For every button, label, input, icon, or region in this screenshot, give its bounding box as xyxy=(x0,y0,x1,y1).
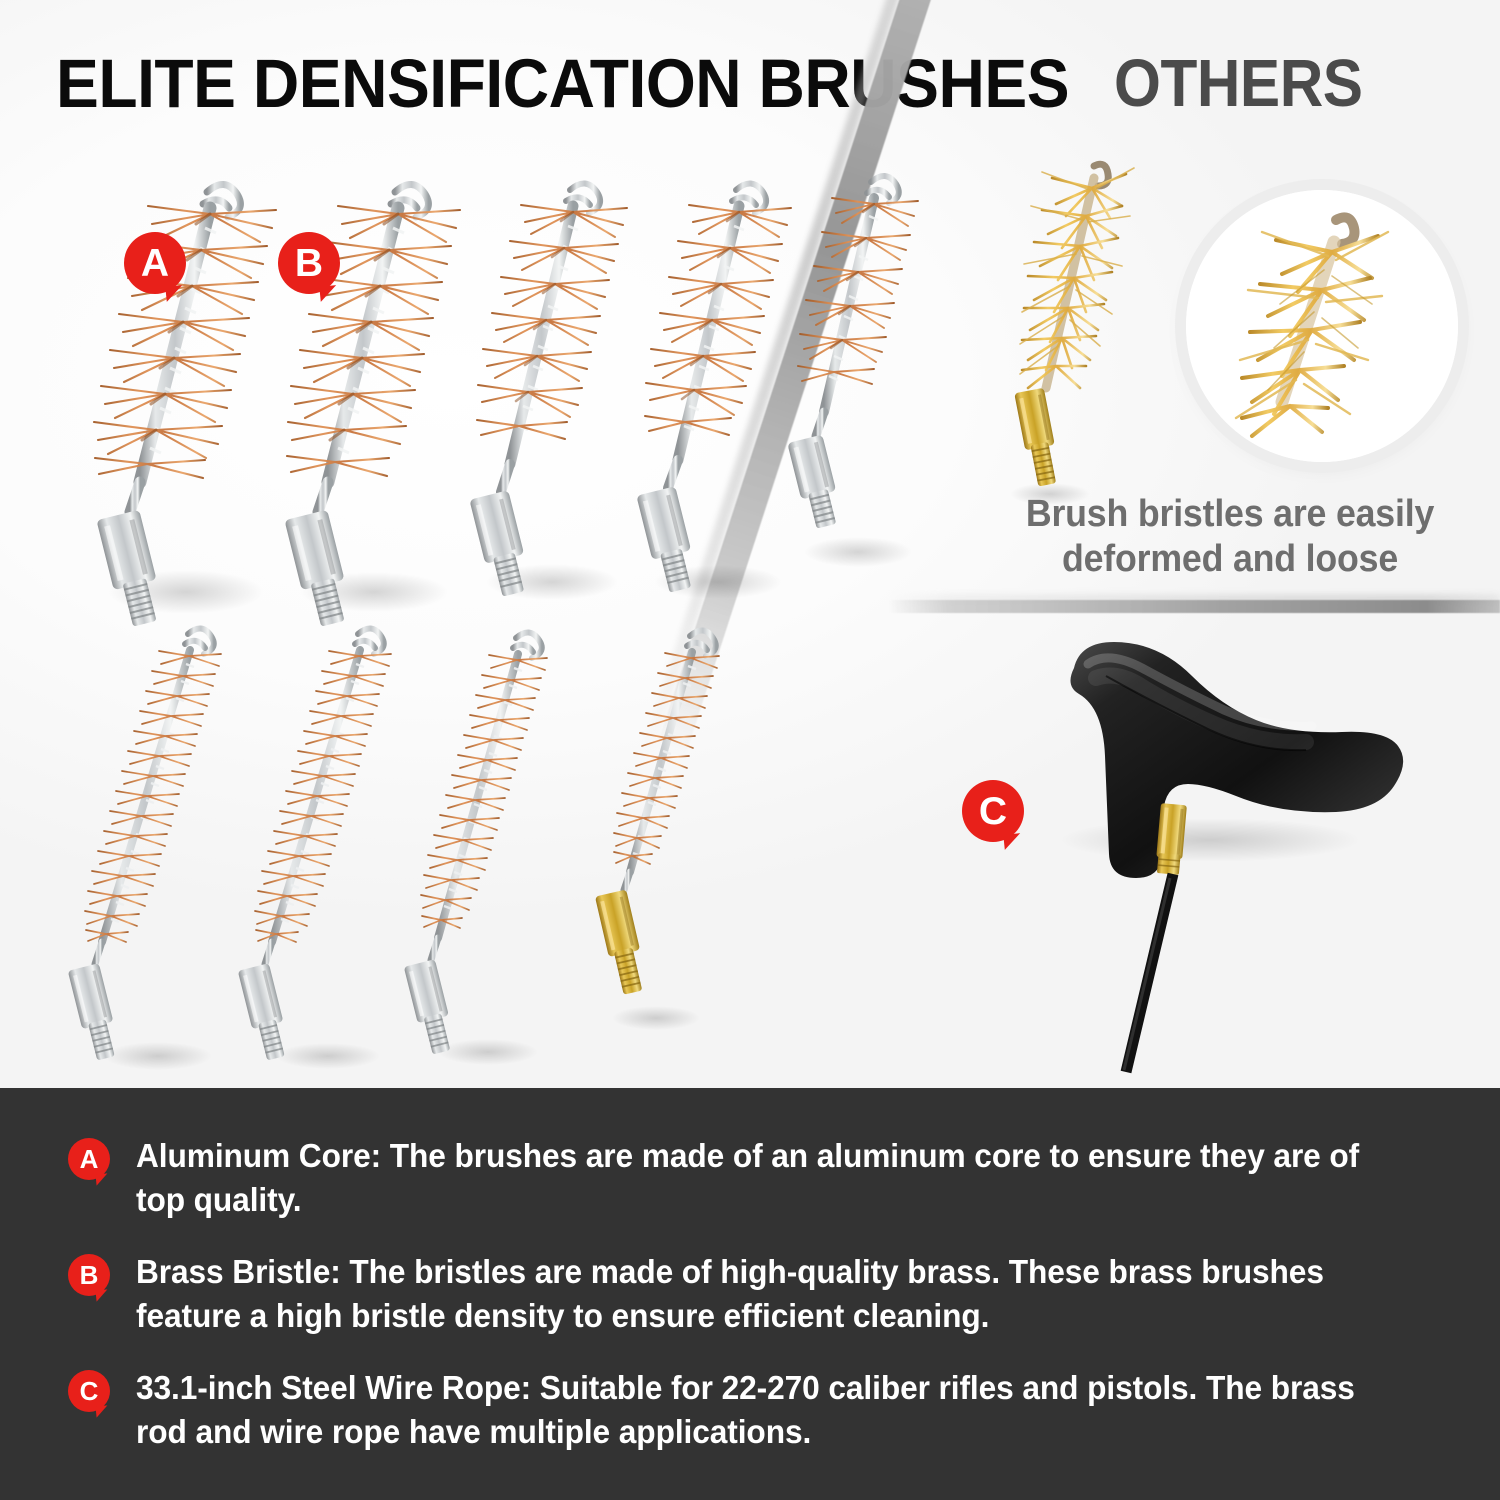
page-title-others: OTHERS xyxy=(1114,47,1363,121)
callout-badge-b: B xyxy=(278,232,340,294)
note-text-a: Aluminum Core: The brushes are made of a… xyxy=(136,1134,1390,1222)
note-letter-a: A xyxy=(68,1138,110,1180)
product-photo-area: ELITE DENSIFICATION BRUSHES OTHERS xyxy=(0,0,1500,1088)
infographic-page: ELITE DENSIFICATION BRUSHES OTHERS xyxy=(0,0,1500,1500)
elite-brush-bottom-4-brass xyxy=(576,614,756,1034)
feature-note-c: C 33.1-inch Steel Wire Rope: Suitable fo… xyxy=(58,1366,1442,1454)
callout-badge-a: A xyxy=(124,232,186,294)
others-caption: Brush bristles are easily deformed and l… xyxy=(976,492,1484,582)
steel-wire-rope-t-handle xyxy=(1010,628,1430,1088)
feature-note-b: B Brass Bristle: The bristles are made o… xyxy=(58,1250,1442,1338)
note-letter-c: C xyxy=(68,1370,110,1412)
note-badge-c: C xyxy=(68,1370,110,1412)
others-caption-line-1: Brush bristles are easily xyxy=(976,492,1484,537)
page-title-elite: ELITE DENSIFICATION BRUSHES xyxy=(56,47,1069,121)
others-brush-deformed xyxy=(990,150,1160,510)
others-caption-line-2: deformed and loose xyxy=(976,537,1484,582)
elite-brush-top-1 xyxy=(74,152,284,612)
elite-brush-bottom-3 xyxy=(396,616,586,1066)
callout-badge-c: C xyxy=(962,780,1024,842)
note-badge-a: A xyxy=(68,1138,110,1180)
note-letter-b: B xyxy=(68,1254,110,1296)
elite-brush-top-5 xyxy=(762,150,942,570)
horizontal-divider xyxy=(888,600,1500,613)
feature-notes-panel: A Aluminum Core: The brushes are made of… xyxy=(0,1088,1500,1500)
callout-letter-a: A xyxy=(124,232,186,294)
note-text-c: 33.1-inch Steel Wire Rope: Suitable for … xyxy=(136,1366,1390,1454)
feature-note-a: A Aluminum Core: The brushes are made of… xyxy=(58,1134,1442,1222)
note-text-b: Brass Bristle: The bristles are made of … xyxy=(136,1250,1390,1338)
note-badge-b: B xyxy=(68,1254,110,1296)
callout-letter-b: B xyxy=(278,232,340,294)
callout-letter-c: C xyxy=(962,780,1024,842)
magnified-bristle-inset xyxy=(1186,190,1458,462)
elite-brush-top-2 xyxy=(262,152,472,612)
